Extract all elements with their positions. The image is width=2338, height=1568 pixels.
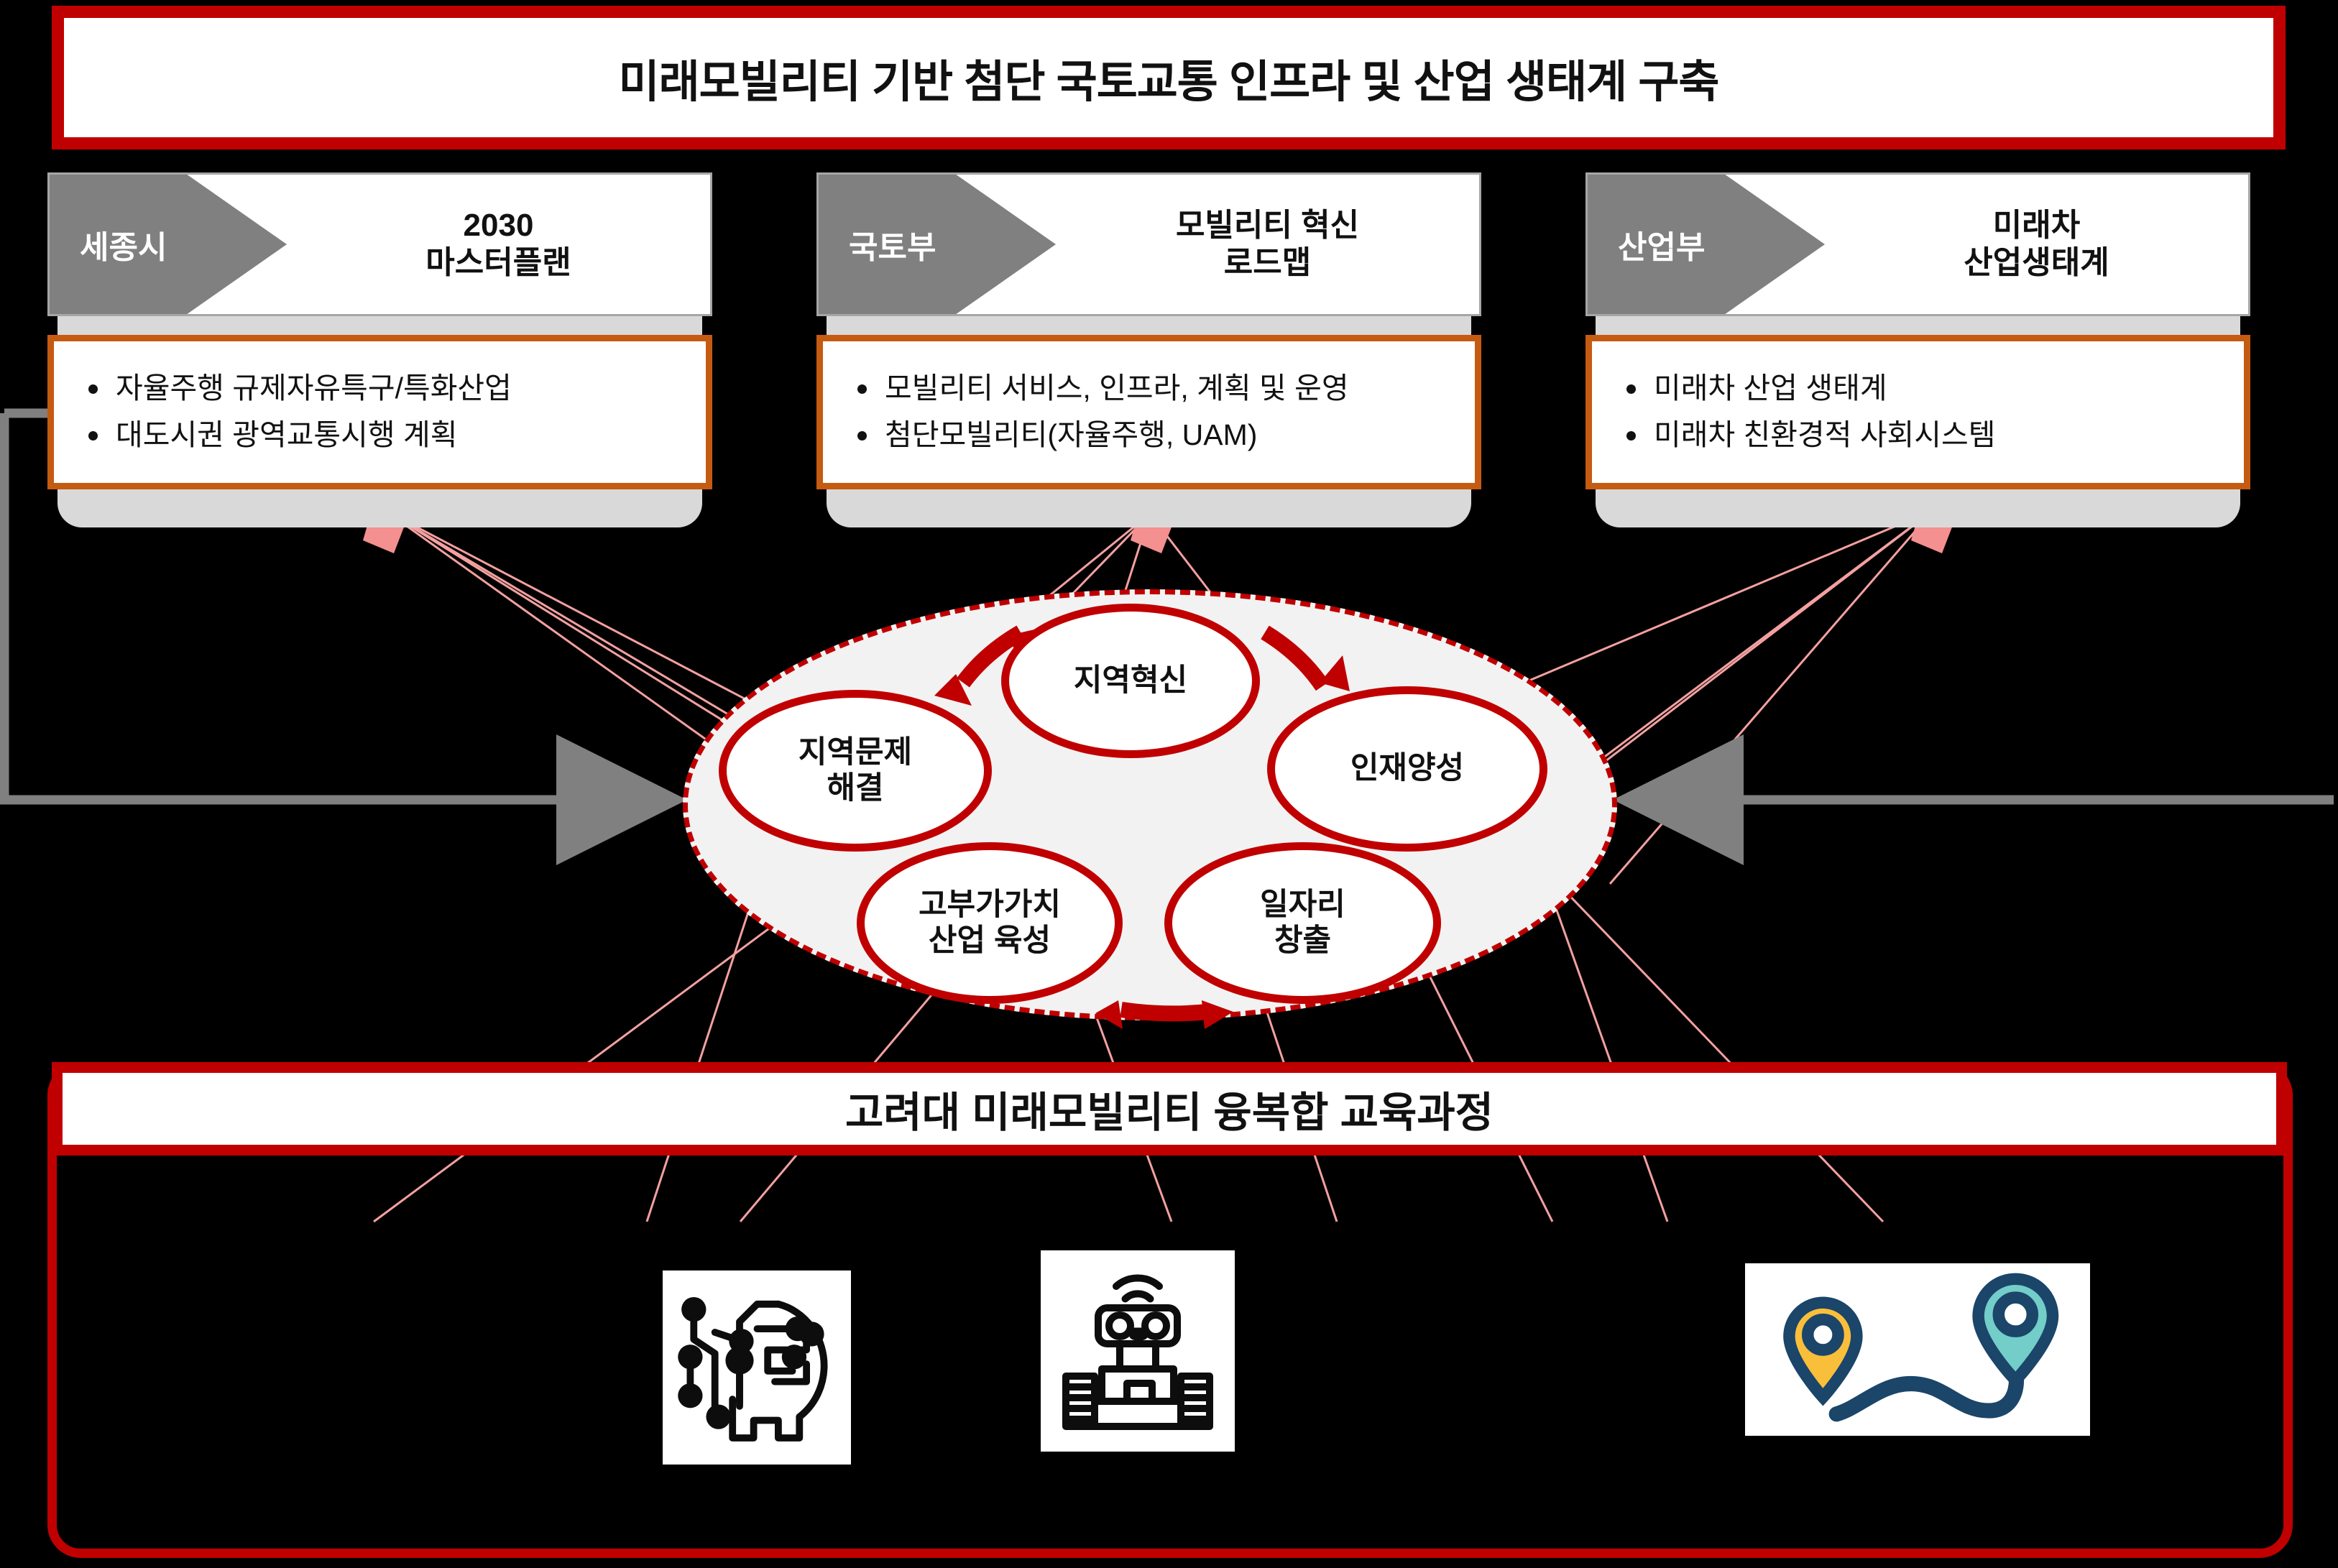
agency-column-motie: 산업부 미래차 산업생태계 미래차 산업 생태계 미래차 친환경적 사회시스템 xyxy=(1585,172,2250,489)
slide-canvas: 미래모빌리티 기반 첨단 국토교통 인프라 및 산업 생태계 구축 세종시 20… xyxy=(0,0,2338,1568)
ai-brain-circuit-icon xyxy=(663,1270,851,1465)
list-item: 대도시권 광역교통시행 계획 xyxy=(80,417,691,453)
chevron-header: 세종시 2030 마스터플랜 xyxy=(47,172,712,316)
ellipse-node-regional-innovation: 지역혁신 xyxy=(1001,604,1260,758)
chevron-heading: 모빌리티 혁신 로드맵 xyxy=(1056,175,1479,314)
list-item: 자율주행 규제자유특구/특화산업 xyxy=(80,370,691,407)
chevron-shape: 산업부 xyxy=(1588,175,1825,314)
node-line-1: 지역문제 xyxy=(798,735,912,770)
robot-rover-icon xyxy=(1041,1250,1235,1452)
list-item: 첨단모빌리티(자율주행, UAM) xyxy=(849,417,1460,453)
node-line-2: 산업 육성 xyxy=(919,923,1061,959)
node-line-2: 해결 xyxy=(798,771,912,806)
chevron-shape: 국토부 xyxy=(819,175,1056,314)
heading-line-1: 모빌리티 혁신 xyxy=(1176,207,1359,244)
heading-line-1: 미래차 xyxy=(1993,207,2080,244)
node-line-1: 인재양성 xyxy=(1350,751,1464,786)
list-item: 모빌리티 서비스, 인프라, 계획 및 운영 xyxy=(849,370,1460,407)
chevron-header: 산업부 미래차 산업생태계 xyxy=(1585,172,2250,316)
bullet-card: 모빌리티 서비스, 인프라, 계획 및 운영 첨단모빌리티(자율주행, UAM) xyxy=(816,335,1481,489)
node-line-1: 지역혁신 xyxy=(1074,663,1187,698)
chevron-shape: 세종시 xyxy=(50,175,287,314)
bullet-card: 자율주행 규제자유특구/특화산업 대도시권 광역교통시행 계획 xyxy=(47,335,712,489)
ellipse-node-regional-problem: 지역문제 해결 xyxy=(719,690,992,852)
heading-line-2: 마스터플랜 xyxy=(425,244,571,282)
chevron-label: 국토부 xyxy=(819,221,936,267)
page-title: 미래모빌리티 기반 첨단 국토교통 인프라 및 산업 생태계 구축 xyxy=(619,45,1719,110)
map-route-pins-icon xyxy=(1745,1263,2090,1436)
bullet-list: 미래차 산업 생태계 미래차 친환경적 사회시스템 xyxy=(1618,370,2229,454)
chevron-header: 국토부 모빌리티 혁신 로드맵 xyxy=(816,172,1481,316)
chevron-label: 세종시 xyxy=(50,221,167,267)
list-item: 미래차 산업 생태계 xyxy=(1618,370,2229,407)
heading-line-2: 산업생태계 xyxy=(1964,244,2109,282)
page-title-banner: 미래모빌리티 기반 첨단 국토교통 인프라 및 산업 생태계 구축 xyxy=(52,6,2286,149)
curriculum-banner: 고려대 미래모빌리티 융복합 교육과정 xyxy=(52,1062,2287,1156)
chevron-heading: 미래차 산업생태계 xyxy=(1825,175,2248,314)
content-layer: 미래모빌리티 기반 첨단 국토교통 인프라 및 산업 생태계 구축 세종시 20… xyxy=(0,0,2338,1568)
heading-line-2: 로드맵 xyxy=(1224,244,1311,282)
bullet-list: 모빌리티 서비스, 인프라, 계획 및 운영 첨단모빌리티(자율주행, UAM) xyxy=(849,370,1460,454)
heading-line-1: 2030 xyxy=(464,207,534,244)
ellipse-node-job-creation: 일자리 창출 xyxy=(1164,842,1441,1004)
ellipse-node-high-value-industry: 고부가가치 산업 육성 xyxy=(857,842,1123,1004)
bullet-card: 미래차 산업 생태계 미래차 친환경적 사회시스템 xyxy=(1585,335,2250,489)
node-line-1: 고부가가치 xyxy=(919,887,1061,923)
chevron-label: 산업부 xyxy=(1588,221,1705,267)
bullet-list: 자율주행 규제자유특구/특화산업 대도시권 광역교통시행 계획 xyxy=(80,370,691,454)
list-item: 미래차 친환경적 사회시스템 xyxy=(1618,417,2229,453)
curriculum-title: 고려대 미래모빌리티 융복합 교육과정 xyxy=(845,1079,1494,1139)
agency-column-molit: 국토부 모빌리티 혁신 로드맵 모빌리티 서비스, 인프라, 계획 및 운영 첨… xyxy=(816,172,1481,489)
node-line-1: 일자리 xyxy=(1260,887,1345,923)
node-line-2: 창출 xyxy=(1260,923,1345,959)
ellipse-node-talent-development: 인재양성 xyxy=(1267,686,1547,852)
chevron-heading: 2030 마스터플랜 xyxy=(287,175,710,314)
agency-column-sejong: 세종시 2030 마스터플랜 자율주행 규제자유특구/특화산업 대도시권 광역교… xyxy=(47,172,712,489)
